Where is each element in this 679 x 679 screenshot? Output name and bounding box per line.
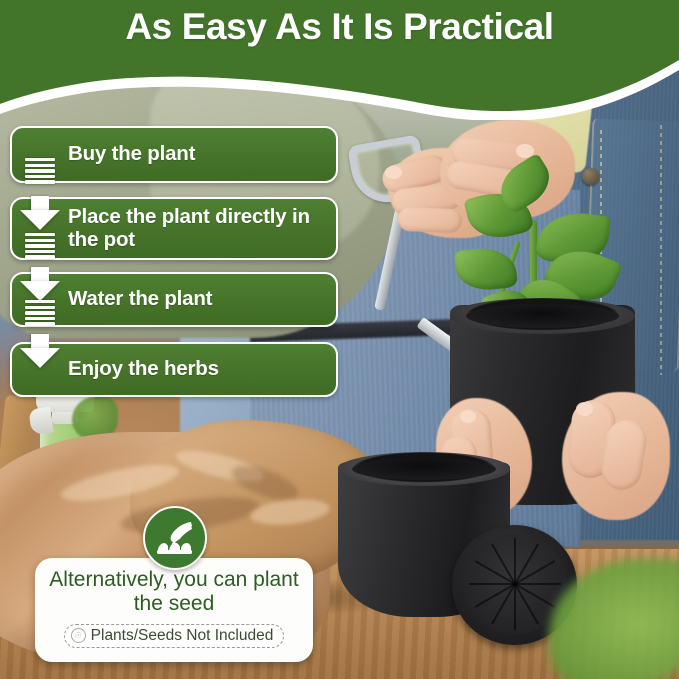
- finger: [398, 207, 463, 233]
- denim-stitch-2: [660, 125, 662, 375]
- step-box-2[interactable]: Place the plant directly in the pot: [10, 197, 338, 260]
- step-box-1[interactable]: Buy the plant: [10, 126, 338, 183]
- saucer-rib: [514, 538, 516, 584]
- status-badge-label: Plants/Seeds Not Included: [91, 627, 274, 645]
- product-infographic: As Easy As It Is Practical Buy the plant…: [0, 0, 679, 679]
- status-badge: ☉ Plants/Seeds Not Included: [64, 624, 285, 648]
- step-label-4: Enjoy the herbs: [68, 358, 219, 381]
- fingernail: [460, 410, 476, 423]
- step-box-3[interactable]: Water the plant: [10, 272, 338, 327]
- header-band: As Easy As It Is Practical: [0, 0, 679, 120]
- hand-planting-seed-icon: [143, 506, 207, 570]
- alternative-note-card: Alternatively, you can plant the seed ☉ …: [35, 558, 313, 662]
- page-title: As Easy As It Is Practical: [0, 6, 679, 48]
- pot-interior: [466, 304, 619, 328]
- step-label-2: Place the plant directly in the pot: [68, 206, 326, 252]
- saucer-rib: [514, 584, 516, 630]
- fingernail: [576, 402, 593, 416]
- info-circle-icon: ☉: [71, 628, 86, 643]
- step-box-4[interactable]: Enjoy the herbs: [10, 342, 338, 397]
- saucer-rib: [515, 583, 561, 585]
- denim-button: [582, 168, 599, 185]
- empty-pot-interior: [352, 458, 496, 480]
- saucer-rib: [469, 583, 515, 585]
- fingernail: [385, 166, 402, 179]
- step-label-3: Water the plant: [68, 288, 212, 311]
- alternative-text: Alternatively, you can plant the seed: [35, 568, 313, 616]
- step-label-1: Buy the plant: [68, 143, 195, 166]
